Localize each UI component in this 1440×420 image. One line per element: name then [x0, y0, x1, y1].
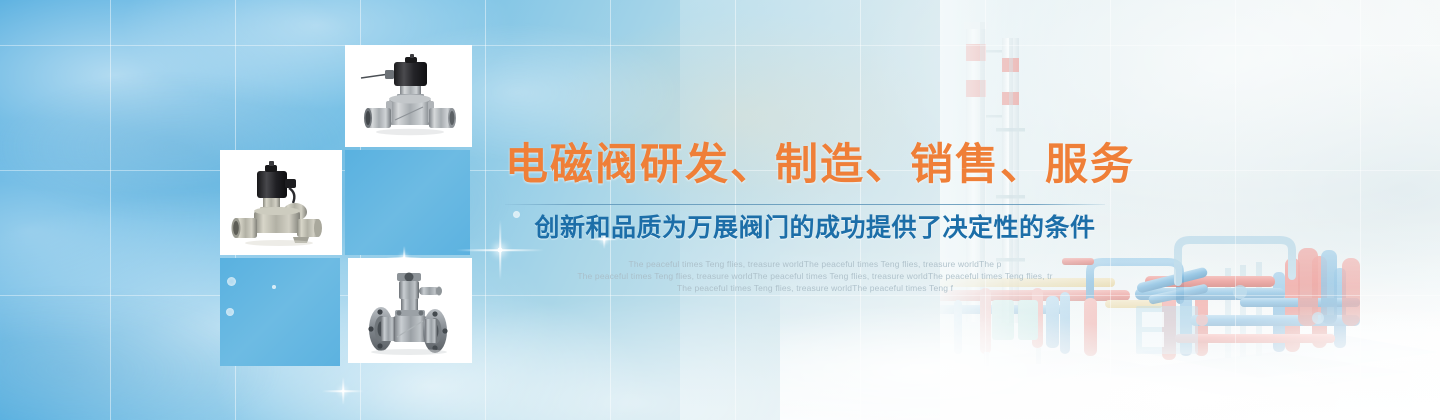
headline-divider: [505, 204, 1105, 205]
blurb-line-1: The peaceful times Teng flies, treasure …: [505, 258, 1125, 270]
blurb-line-3: The peaceful times Teng flies, treasure …: [505, 282, 1125, 294]
thumbnail-solenoid-valve-brass-angle[interactable]: [220, 150, 342, 255]
tile-blue-filler-right: [345, 150, 470, 255]
tile-blue-filler-bottom: [220, 258, 340, 366]
thumbnail-photo: [349, 49, 468, 143]
thumbnail-photo: [352, 262, 468, 359]
product-thumbnail-group: [0, 0, 500, 420]
thumbnail-photo: [224, 154, 338, 251]
banner-subheadline: 创新和品质为万展阀门的成功提供了决定性的条件: [505, 213, 1125, 244]
banner-blurb-text: The peaceful times Teng flies, treasure …: [505, 258, 1125, 294]
thumbnail-solenoid-valve-threaded-inline[interactable]: [345, 45, 472, 147]
thumbnail-solenoid-valve-flanged[interactable]: [348, 258, 472, 363]
banner-headline: 电磁阀研发、制造、销售、服务: [505, 140, 1125, 191]
banner-copy-block: 电磁阀研发、制造、销售、服务 创新和品质为万展阀门的成功提供了决定性的条件 Th…: [505, 140, 1125, 294]
blurb-line-2: The peaceful times Teng flies, treasure …: [505, 270, 1125, 282]
hero-banner: 电磁阀研发、制造、销售、服务 创新和品质为万展阀门的成功提供了决定性的条件 Th…: [0, 0, 1440, 420]
